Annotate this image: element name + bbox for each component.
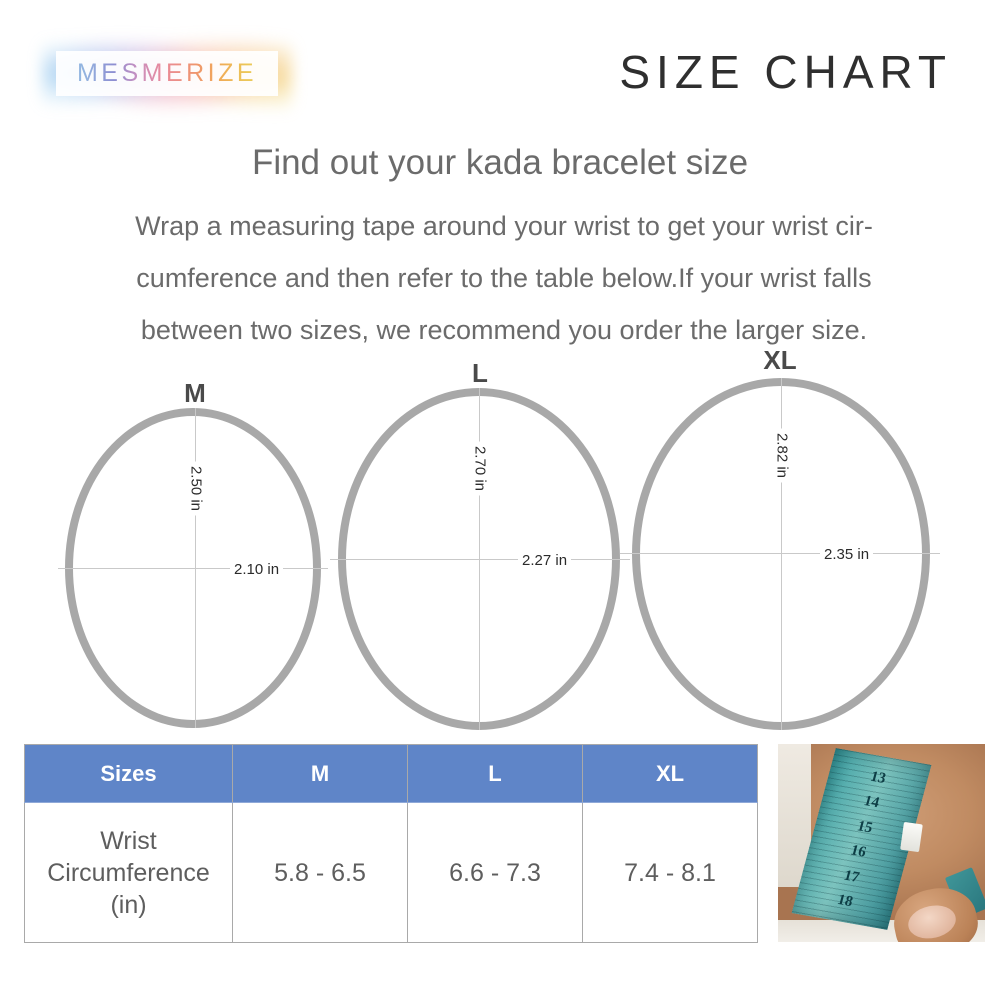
oval-width-label-m: 2.10 in <box>230 559 283 580</box>
row-label-wrist-circumference: Wrist Circumference (in) <box>25 803 233 943</box>
intro-paragraph: Wrap a measuring tape around your wrist … <box>50 200 958 356</box>
wrist-measurement-photo: 13 14 15 16 17 18 <box>778 744 985 942</box>
oval-label-xl: XL <box>620 345 940 376</box>
logo-wordmark: MESMERIZE <box>56 51 278 96</box>
oval-width-label-xl: 2.35 in <box>820 544 873 565</box>
table-header-xl: XL <box>583 745 758 803</box>
row-label-line-3: (in) <box>25 889 232 921</box>
size-table: Sizes M L XL Wrist Circumference (in) 5.… <box>24 744 758 943</box>
oval-axis-horizontal-m <box>58 568 328 569</box>
table-header-l: L <box>408 745 583 803</box>
cell-wrist-xl: 7.4 - 8.1 <box>583 803 758 943</box>
oval-diagram-m: M 2.50 in 2.10 in <box>50 378 340 738</box>
table-header-row: Sizes M L XL <box>25 745 758 803</box>
oval-label-m: M <box>50 378 340 409</box>
cell-wrist-l: 6.6 - 7.3 <box>408 803 583 943</box>
oval-diagrams: M 2.50 in 2.10 in L 2.70 in 2.27 in XL 2… <box>0 340 1000 740</box>
size-chart-page: MESMERIZE SIZE CHART Find out your kada … <box>0 0 1000 1000</box>
oval-label-l: L <box>330 358 630 389</box>
intro-line-2: cumference and then refer to the table b… <box>50 252 958 304</box>
page-title: SIZE CHART <box>619 45 952 99</box>
oval-height-label-xl: 2.82 in <box>772 429 793 483</box>
subtitle: Find out your kada bracelet size <box>0 143 1000 183</box>
table-row: Wrist Circumference (in) 5.8 - 6.5 6.6 -… <box>25 803 758 943</box>
oval-axis-horizontal-l <box>330 559 630 560</box>
row-label-line-1: Wrist <box>25 825 232 857</box>
oval-diagram-l: L 2.70 in 2.27 in <box>330 358 630 738</box>
brand-logo: MESMERIZE <box>42 38 292 110</box>
cell-wrist-m: 5.8 - 6.5 <box>233 803 408 943</box>
row-label-line-2: Circumference <box>25 857 232 889</box>
oval-diagram-xl: XL 2.82 in 2.35 in <box>620 345 940 740</box>
oval-height-label-m: 2.50 in <box>186 462 207 516</box>
oval-axis-horizontal-xl <box>620 553 940 554</box>
table-header-m: M <box>233 745 408 803</box>
oval-width-label-l: 2.27 in <box>518 550 571 571</box>
oval-height-label-l: 2.70 in <box>470 442 491 496</box>
intro-line-1: Wrap a measuring tape around your wrist … <box>50 200 958 252</box>
table-header-sizes: Sizes <box>25 745 233 803</box>
